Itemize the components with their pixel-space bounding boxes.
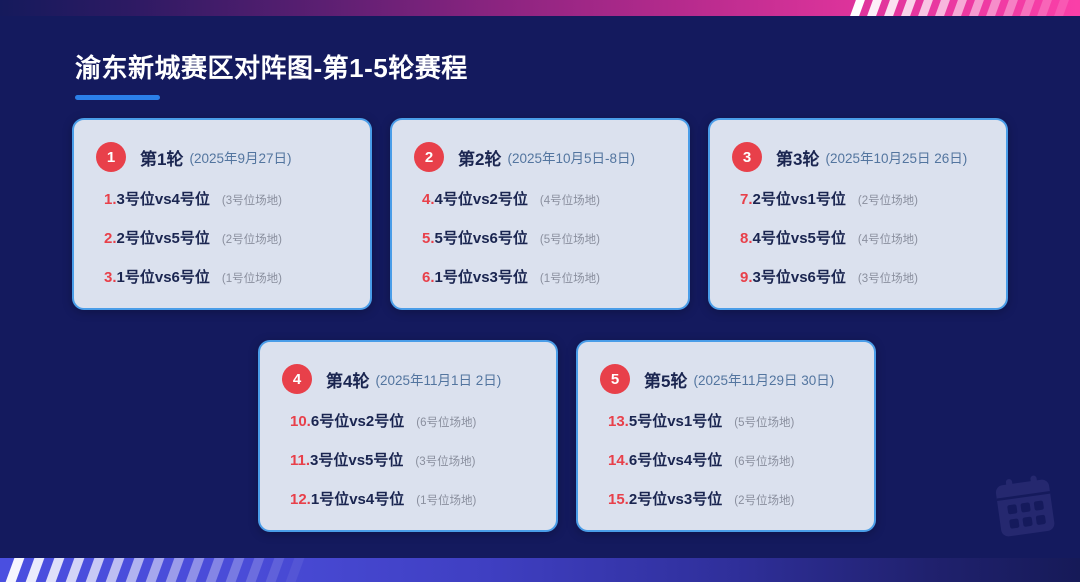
match-venue: (4号位场地) (858, 231, 918, 247)
round-card-3[interactable]: 3 第3轮 (2025年10月25日 26日) 7. 2号位vs1号位 (2号位… (708, 118, 1008, 310)
match-venue: (1号位场地) (222, 270, 282, 286)
match-venue: (2号位场地) (222, 231, 282, 247)
match-index: 12. (290, 491, 311, 508)
round-date: (2025年10月5日-8日) (507, 147, 635, 167)
match-row[interactable]: 12. 1号位vs4号位 (1号位场地) (290, 488, 556, 509)
round-card-1[interactable]: 1 第1轮 (2025年9月27日) 1. 3号位vs4号位 (3号位场地) 2… (72, 118, 372, 310)
match-list: 7. 2号位vs1号位 (2号位场地) 8. 4号位vs5号位 (4号位场地) … (710, 172, 1006, 287)
round-name: 第4轮 (326, 367, 369, 392)
match-pairing: 5号位vs6号位 (435, 227, 528, 248)
top-decorative-bar (0, 0, 1080, 16)
title-underline (75, 95, 160, 100)
bottom-decorative-bar (0, 558, 1080, 582)
match-index: 14. (608, 452, 629, 469)
match-venue: (3号位场地) (858, 270, 918, 286)
match-index: 15. (608, 491, 629, 508)
match-venue: (3号位场地) (415, 453, 475, 469)
match-row[interactable]: 1. 3号位vs4号位 (3号位场地) (104, 188, 370, 209)
round-date: (2025年11月29日 30日) (693, 369, 834, 389)
match-pairing: 4号位vs5号位 (753, 227, 846, 248)
match-venue: (5号位场地) (734, 414, 794, 430)
match-pairing: 6号位vs4号位 (629, 449, 722, 470)
round-header: 2 第2轮 (2025年10月5日-8日) (392, 120, 688, 172)
match-pairing: 3号位vs6号位 (753, 266, 846, 287)
match-venue: (3号位场地) (222, 192, 282, 208)
page-title: 渝东新城赛区对阵图-第1-5轮赛程 (75, 48, 468, 85)
round-number-badge: 1 (96, 142, 126, 172)
match-index: 3. (104, 269, 117, 286)
match-index: 2. (104, 230, 117, 247)
match-row[interactable]: 4. 4号位vs2号位 (4号位场地) (422, 188, 688, 209)
match-venue: (6号位场地) (734, 453, 794, 469)
match-pairing: 2号位vs5号位 (117, 227, 210, 248)
round-number-badge: 2 (414, 142, 444, 172)
bottom-stripe-group (0, 558, 330, 582)
match-pairing: 1号位vs4号位 (311, 488, 404, 509)
round-date: (2025年9月27日) (189, 147, 291, 167)
match-list: 13. 5号位vs1号位 (5号位场地) 14. 6号位vs4号位 (6号位场地… (578, 394, 874, 509)
match-venue: (2号位场地) (734, 492, 794, 508)
round-header: 3 第3轮 (2025年10月25日 26日) (710, 120, 1006, 172)
match-venue: (1号位场地) (540, 270, 600, 286)
match-pairing: 3号位vs4号位 (117, 188, 210, 209)
round-date: (2025年10月25日 26日) (825, 147, 967, 167)
match-row[interactable]: 6. 1号位vs3号位 (1号位场地) (422, 266, 688, 287)
match-row[interactable]: 2. 2号位vs5号位 (2号位场地) (104, 227, 370, 248)
match-index: 13. (608, 413, 629, 430)
match-row[interactable]: 11. 3号位vs5号位 (3号位场地) (290, 449, 556, 470)
match-pairing: 3号位vs5号位 (310, 449, 403, 470)
match-row[interactable]: 13. 5号位vs1号位 (5号位场地) (608, 410, 874, 431)
match-row[interactable]: 3. 1号位vs6号位 (1号位场地) (104, 266, 370, 287)
match-row[interactable]: 9. 3号位vs6号位 (3号位场地) (740, 266, 1006, 287)
round-name: 第2轮 (458, 145, 501, 170)
top-stripe-group (845, 0, 1080, 16)
match-row[interactable]: 14. 6号位vs4号位 (6号位场地) (608, 449, 874, 470)
match-index: 6. (422, 269, 435, 286)
round-name: 第5轮 (644, 367, 687, 392)
match-venue: (6号位场地) (416, 414, 476, 430)
match-row[interactable]: 7. 2号位vs1号位 (2号位场地) (740, 188, 1006, 209)
match-pairing: 2号位vs3号位 (629, 488, 722, 509)
match-pairing: 5号位vs1号位 (629, 410, 722, 431)
match-index: 10. (290, 413, 311, 430)
round-header: 4 第4轮 (2025年11月1日 2日) (260, 342, 556, 394)
round-card-5[interactable]: 5 第5轮 (2025年11月29日 30日) 13. 5号位vs1号位 (5号… (576, 340, 876, 532)
round-name: 第3轮 (776, 145, 819, 170)
page-header: 渝东新城赛区对阵图-第1-5轮赛程 (75, 48, 468, 100)
match-pairing: 4号位vs2号位 (435, 188, 528, 209)
round-number-badge: 4 (282, 364, 312, 394)
match-pairing: 1号位vs6号位 (117, 266, 210, 287)
match-venue: (2号位场地) (858, 192, 918, 208)
match-index: 1. (104, 191, 117, 208)
match-venue: (5号位场地) (540, 231, 600, 247)
round-number-badge: 3 (732, 142, 762, 172)
round-card-2[interactable]: 2 第2轮 (2025年10月5日-8日) 4. 4号位vs2号位 (4号位场地… (390, 118, 690, 310)
round-number-badge: 5 (600, 364, 630, 394)
match-index: 7. (740, 191, 753, 208)
match-venue: (1号位场地) (416, 492, 476, 508)
match-index: 11. (290, 452, 310, 469)
round-header: 1 第1轮 (2025年9月27日) (74, 120, 370, 172)
match-row[interactable]: 5. 5号位vs6号位 (5号位场地) (422, 227, 688, 248)
match-pairing: 1号位vs3号位 (435, 266, 528, 287)
round-date: (2025年11月1日 2日) (375, 369, 501, 389)
match-index: 9. (740, 269, 753, 286)
match-index: 4. (422, 191, 435, 208)
match-row[interactable]: 10. 6号位vs2号位 (6号位场地) (290, 410, 556, 431)
match-pairing: 2号位vs1号位 (753, 188, 846, 209)
match-pairing: 6号位vs2号位 (311, 410, 404, 431)
match-venue: (4号位场地) (540, 192, 600, 208)
match-index: 8. (740, 230, 753, 247)
match-list: 4. 4号位vs2号位 (4号位场地) 5. 5号位vs6号位 (5号位场地) … (392, 172, 688, 287)
round-card-4[interactable]: 4 第4轮 (2025年11月1日 2日) 10. 6号位vs2号位 (6号位场… (258, 340, 558, 532)
match-index: 5. (422, 230, 435, 247)
match-row[interactable]: 15. 2号位vs3号位 (2号位场地) (608, 488, 874, 509)
round-header: 5 第5轮 (2025年11月29日 30日) (578, 342, 874, 394)
match-list: 1. 3号位vs4号位 (3号位场地) 2. 2号位vs5号位 (2号位场地) … (74, 172, 370, 287)
match-list: 10. 6号位vs2号位 (6号位场地) 11. 3号位vs5号位 (3号位场地… (260, 394, 556, 509)
round-name: 第1轮 (140, 145, 183, 170)
calendar-watermark (992, 474, 1058, 540)
match-row[interactable]: 8. 4号位vs5号位 (4号位场地) (740, 227, 1006, 248)
